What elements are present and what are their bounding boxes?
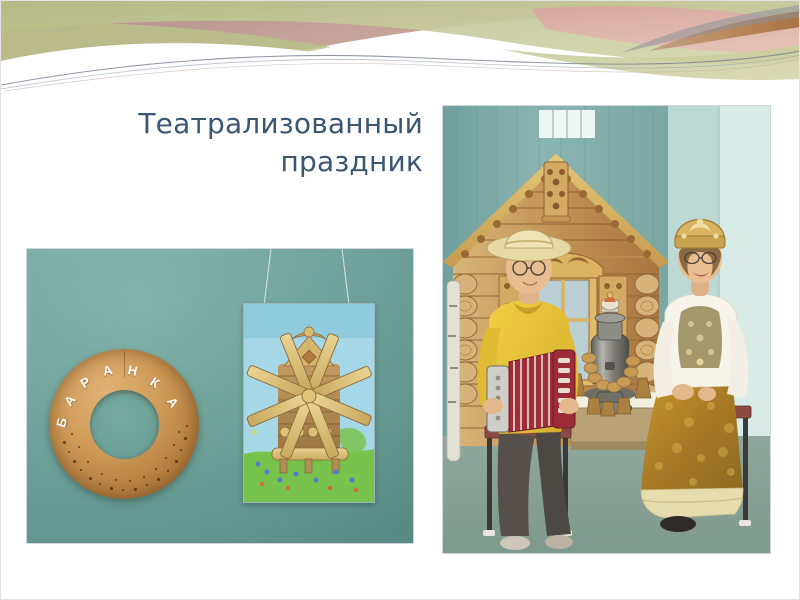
- skirt-hem: [641, 488, 743, 518]
- photo-folk-performers[interactable]: [442, 105, 771, 554]
- baranka-object: Б А Р А Н К А: [49, 349, 199, 499]
- man-shoe-right: [545, 535, 573, 549]
- gable-pendant: [542, 162, 570, 222]
- banner-shape-tan-ribbon: [649, 11, 800, 51]
- banner-shape-olive: [1, 1, 800, 64]
- brooch: [696, 358, 704, 366]
- banner-hairline-steel: [1, 51, 800, 85]
- banner-shape-steel-ribbon: [621, 5, 800, 53]
- woman-hand-right: [698, 387, 716, 401]
- slide-title-line-1: Театрализованный: [63, 105, 423, 143]
- presentation-slide: Театрализованный праздник: [0, 0, 800, 600]
- decorative-swoosh-banner: [1, 1, 800, 97]
- slide-title: Театрализованный праздник: [63, 105, 423, 181]
- banner-shape-mauve: [1, 1, 800, 87]
- man-hand-right: [559, 398, 579, 414]
- photo-bagel-and-windmill[interactable]: Б А Р А Н К А: [26, 248, 414, 544]
- man-shoe-left: [500, 536, 530, 550]
- woman-hand-left: [672, 384, 694, 400]
- woman-shoe: [660, 516, 696, 532]
- slide-title-line-2: праздник: [63, 143, 423, 181]
- banner-shape-olive-lower: [501, 45, 800, 80]
- bagel-seam: [124, 351, 125, 377]
- banner-shape-white: [1, 43, 800, 97]
- man-hand-left: [483, 398, 503, 414]
- windmill-drawing-sheet: [243, 303, 375, 503]
- birch-pole: [447, 281, 460, 461]
- banner-shape-rose: [531, 6, 800, 53]
- bagel-hole: [90, 390, 159, 459]
- banner-hairline-steel-2: [1, 55, 800, 89]
- banner-shape-olive-left: [1, 22, 331, 91]
- banner-hairline-rose: [5, 59, 800, 91]
